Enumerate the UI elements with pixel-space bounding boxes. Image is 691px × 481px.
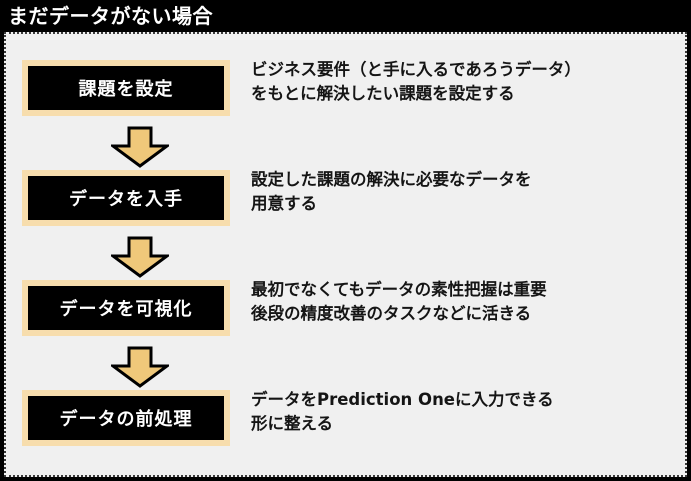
arrow-down-icon — [111, 346, 169, 388]
flow-step-1: 課題を設定 ビジネス要件（と手に入るであろうデータ） をもとに解決したい課題を設… — [6, 60, 685, 116]
stage-description-4: データをPrediction Oneに入力できる 形に整える — [251, 388, 681, 436]
stage-box-4: データの前処理 — [22, 390, 230, 446]
stage-box-1-label: 課題を設定 — [28, 66, 224, 110]
stage-box-3-label: データを可視化 — [28, 286, 224, 330]
stage-description-1: ビジネス要件（と手に入るであろうデータ） をもとに解決したい課題を設定する — [251, 58, 681, 106]
stage-box-1: 課題を設定 — [22, 60, 230, 116]
slide-root: まだデータがない場合 課題を設定 ビジネス要件（と手に入るであろうデータ） をも… — [0, 0, 691, 481]
flow-step-3: データを可視化 最初でなくてもデータの素性把握は重要 後段の精度改善のタスクなど… — [6, 280, 685, 336]
stage-box-3: データを可視化 — [22, 280, 230, 336]
stage-box-4-label: データの前処理 — [28, 396, 224, 440]
stage-box-2-label: データを入手 — [28, 176, 224, 220]
flow-step-2: データを入手 設定した課題の解決に必要なデータを 用意する — [6, 170, 685, 226]
stage-box-2: データを入手 — [22, 170, 230, 226]
slide-title: まだデータがない場合 — [8, 2, 608, 30]
arrow-down-icon — [111, 236, 169, 278]
arrow-down-icon — [111, 126, 169, 168]
flow-step-4: データの前処理 データをPrediction Oneに入力できる 形に整える — [6, 390, 685, 446]
slide-content-panel: 課題を設定 ビジネス要件（と手に入るであろうデータ） をもとに解決したい課題を設… — [4, 32, 687, 477]
stage-description-2: 設定した課題の解決に必要なデータを 用意する — [251, 168, 681, 216]
stage-description-3: 最初でなくてもデータの素性把握は重要 後段の精度改善のタスクなどに活きる — [251, 278, 681, 326]
